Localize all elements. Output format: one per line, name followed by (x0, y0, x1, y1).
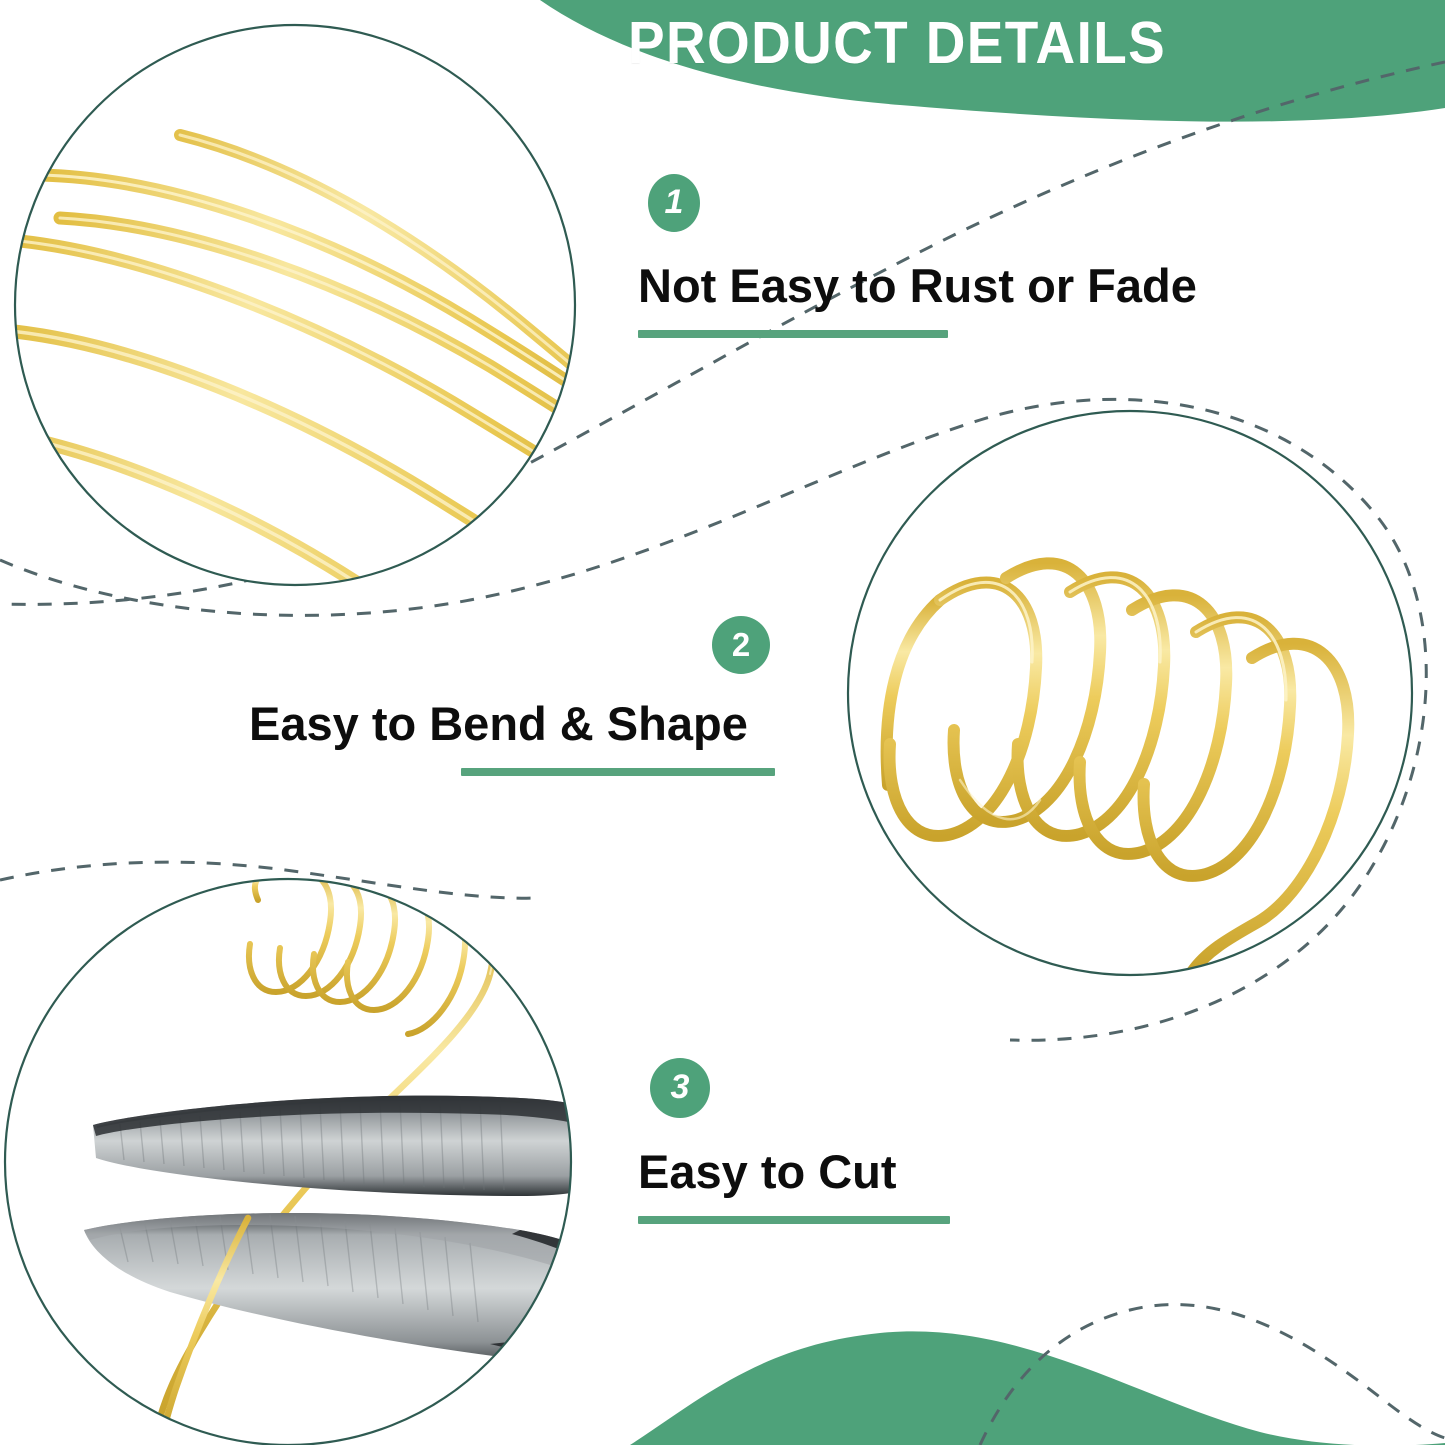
feature-title-1: Not Easy to Rust or Fade (638, 262, 1197, 309)
feature-underline-1 (638, 330, 948, 338)
feature-underline-3 (638, 1216, 950, 1224)
feature-number-badge-3: 3 (650, 1058, 710, 1118)
feature-number-badge-1: 1 (648, 174, 700, 232)
feature-title-3: Easy to Cut (638, 1148, 897, 1195)
feature-underline-2 (461, 768, 775, 776)
feature-number-badge-2: 2 (712, 616, 770, 674)
product-details-infographic: PRODUCT DETAILS 1 Not Easy to Rust or Fa… (0, 0, 1445, 1445)
feature-title-2: Easy to Bend & Shape (249, 700, 748, 747)
